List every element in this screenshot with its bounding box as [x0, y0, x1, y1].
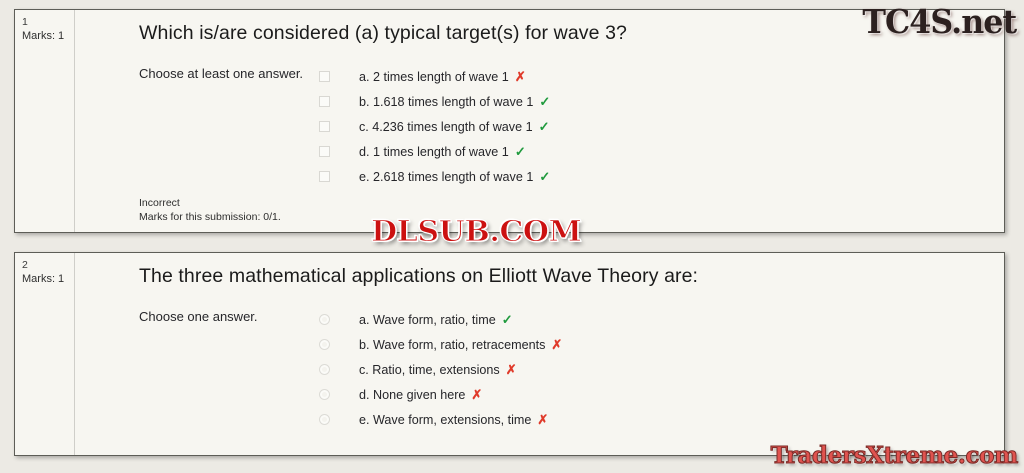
answer-option-label: c. Ratio, time, extensions [345, 363, 500, 377]
check-icon: ✓ [533, 119, 550, 135]
question-title: The three mathematical applications on E… [77, 253, 1004, 289]
answer-option[interactable]: e. Wave form, extensions, time ✗ [319, 407, 1004, 432]
answer-option[interactable]: c. Ratio, time, extensions ✗ [319, 357, 1004, 382]
cross-icon: ✗ [509, 69, 526, 85]
answer-options-list-1: a. 2 times length of wave 1 ✗ b. 1.618 t… [319, 64, 1004, 189]
radio-option-d[interactable] [319, 389, 345, 400]
answer-option[interactable]: a. 2 times length of wave 1 ✗ [319, 64, 1004, 89]
question-marks: Marks: 1 [22, 29, 74, 44]
radio-option-c[interactable] [319, 364, 345, 375]
answer-option-label: a. 2 times length of wave 1 [345, 70, 509, 84]
checkbox-option-d[interactable] [319, 146, 345, 157]
radio-option-a[interactable] [319, 314, 345, 325]
cross-icon: ✗ [531, 412, 548, 428]
question-meta-column-2: 2 Marks: 1 [15, 253, 75, 455]
check-icon: ✓ [533, 169, 550, 185]
quiz-page: 1 Marks: 1 Which is/are considered (a) t… [0, 0, 1024, 473]
question-panel-2: 2 Marks: 1 The three mathematical applic… [14, 252, 1005, 456]
feedback-result: Incorrect [139, 197, 281, 211]
radio-icon [319, 314, 330, 325]
radio-option-e[interactable] [319, 414, 345, 425]
answer-instruction: Choose at least one answer. [139, 64, 319, 189]
answer-option[interactable]: b. Wave form, ratio, retracements ✗ [319, 332, 1004, 357]
question-feedback-1: Incorrect Marks for this submission: 0/1… [139, 197, 281, 224]
answer-option-label: b. Wave form, ratio, retracements [345, 338, 545, 352]
radio-icon [319, 414, 330, 425]
check-icon: ✓ [496, 312, 513, 328]
feedback-submission-marks: Marks for this submission: 0/1. [139, 211, 281, 225]
cross-icon: ✗ [545, 337, 562, 353]
cross-icon: ✗ [500, 362, 517, 378]
answer-option[interactable]: d. None given here ✗ [319, 382, 1004, 407]
answer-instruction: Choose one answer. [139, 307, 319, 432]
answer-option[interactable]: e. 2.618 times length of wave 1 ✓ [319, 164, 1004, 189]
answer-option-label: d. None given here [345, 388, 465, 402]
checkbox-option-b[interactable] [319, 96, 345, 107]
answer-option-label: b. 1.618 times length of wave 1 [345, 95, 533, 109]
question-title: Which is/are considered (a) typical targ… [77, 10, 1004, 46]
question-number: 2 [22, 259, 74, 272]
checkbox-option-e[interactable] [319, 171, 345, 182]
answer-option-label: c. 4.236 times length of wave 1 [345, 120, 533, 134]
answer-option[interactable]: a. Wave form, ratio, time ✓ [319, 307, 1004, 332]
checkbox-icon [319, 121, 330, 132]
question-body-1: Which is/are considered (a) typical targ… [77, 10, 1004, 232]
question-marks: Marks: 1 [22, 272, 74, 287]
answer-option-label: e. 2.618 times length of wave 1 [345, 170, 533, 184]
radio-icon [319, 339, 330, 350]
radio-option-b[interactable] [319, 339, 345, 350]
answer-options-list-2: a. Wave form, ratio, time ✓ b. Wave form… [319, 307, 1004, 432]
question-body-2: The three mathematical applications on E… [77, 253, 1004, 455]
checkbox-icon [319, 71, 330, 82]
radio-icon [319, 364, 330, 375]
checkbox-icon [319, 96, 330, 107]
checkbox-icon [319, 146, 330, 157]
question-panel-1: 1 Marks: 1 Which is/are considered (a) t… [14, 9, 1005, 233]
answer-option[interactable]: b. 1.618 times length of wave 1 ✓ [319, 89, 1004, 114]
check-icon: ✓ [509, 144, 526, 160]
answer-option[interactable]: c. 4.236 times length of wave 1 ✓ [319, 114, 1004, 139]
answer-option-label: a. Wave form, ratio, time [345, 313, 496, 327]
question-number: 1 [22, 16, 74, 29]
checkbox-option-c[interactable] [319, 121, 345, 132]
question-meta-column-1: 1 Marks: 1 [15, 10, 75, 232]
answer-option-label: d. 1 times length of wave 1 [345, 145, 509, 159]
radio-icon [319, 389, 330, 400]
checkbox-option-a[interactable] [319, 71, 345, 82]
answer-option-label: e. Wave form, extensions, time [345, 413, 531, 427]
cross-icon: ✗ [465, 387, 482, 403]
answer-option[interactable]: d. 1 times length of wave 1 ✓ [319, 139, 1004, 164]
checkbox-icon [319, 171, 330, 182]
check-icon: ✓ [533, 94, 550, 110]
